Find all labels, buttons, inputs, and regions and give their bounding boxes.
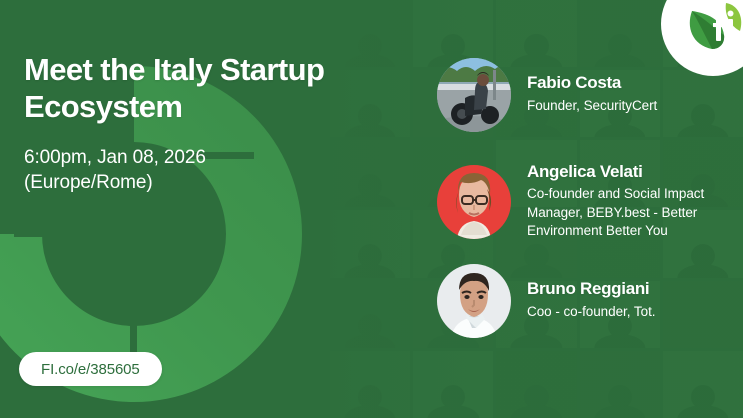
speaker-name: Angelica Velati xyxy=(527,162,735,182)
event-promo-card: Meet the Italy Startup Ecosystem 6:00pm,… xyxy=(0,0,743,418)
speaker-name: Fabio Costa xyxy=(527,73,657,93)
speaker-text: Bruno Reggiani Coo - co-founder, Tot. xyxy=(527,279,655,323)
short-url-badge[interactable]: FI.co/e/385605 xyxy=(19,352,162,386)
short-url-text: FI.co/e/385605 xyxy=(41,361,140,378)
page-title: Meet the Italy Startup Ecosystem xyxy=(24,52,384,125)
list-item: Bruno Reggiani Coo - co-founder, Tot. xyxy=(437,264,737,338)
speaker-text: Fabio Costa Founder, SecurityCert xyxy=(527,73,657,117)
avatar-photo-portrait-light-background xyxy=(437,264,511,338)
speaker-title: Coo - co-founder, Tot. xyxy=(527,303,655,321)
speaker-list: Fabio Costa Founder, SecurityCert xyxy=(437,58,737,338)
avatar-photo-motorcycle-outdoor xyxy=(437,58,511,132)
speaker-title: Co-founder and Social Impact Manager, BE… xyxy=(527,185,735,240)
event-datetime: 6:00pm, Jan 08, 2026 (Europe/Rome) xyxy=(24,145,384,196)
speaker-name: Bruno Reggiani xyxy=(527,279,655,299)
founder-institute-leaf-fi-logo-icon xyxy=(682,0,743,55)
speaker-text: Angelica Velati Co-founder and Social Im… xyxy=(527,162,735,242)
speaker-title: Founder, SecurityCert xyxy=(527,97,657,115)
list-item: Angelica Velati Co-founder and Social Im… xyxy=(437,162,737,242)
event-info-block: Meet the Italy Startup Ecosystem 6:00pm,… xyxy=(24,52,384,196)
avatar-photo-portrait-red-background xyxy=(437,165,511,239)
